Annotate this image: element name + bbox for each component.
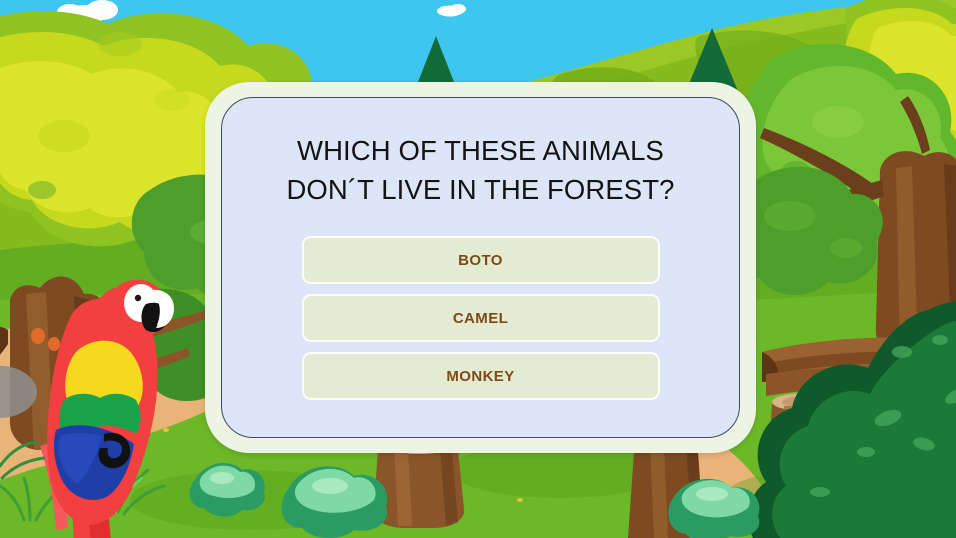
answer-option-monkey[interactable]: MONKEY xyxy=(302,352,660,400)
answer-option-camel[interactable]: CAMEL xyxy=(302,294,660,342)
answer-options-list: BOTO CAMEL MONKEY xyxy=(222,236,739,400)
question-text: WHICH OF THESE ANIMALS DON´T LIVE IN THE… xyxy=(222,131,739,209)
quiz-card-inner: WHICH OF THESE ANIMALS DON´T LIVE IN THE… xyxy=(221,97,740,438)
answer-option-boto[interactable]: BOTO xyxy=(302,236,660,284)
quiz-screen: WHICH OF THESE ANIMALS DON´T LIVE IN THE… xyxy=(0,0,956,538)
quiz-card: WHICH OF THESE ANIMALS DON´T LIVE IN THE… xyxy=(205,82,756,453)
